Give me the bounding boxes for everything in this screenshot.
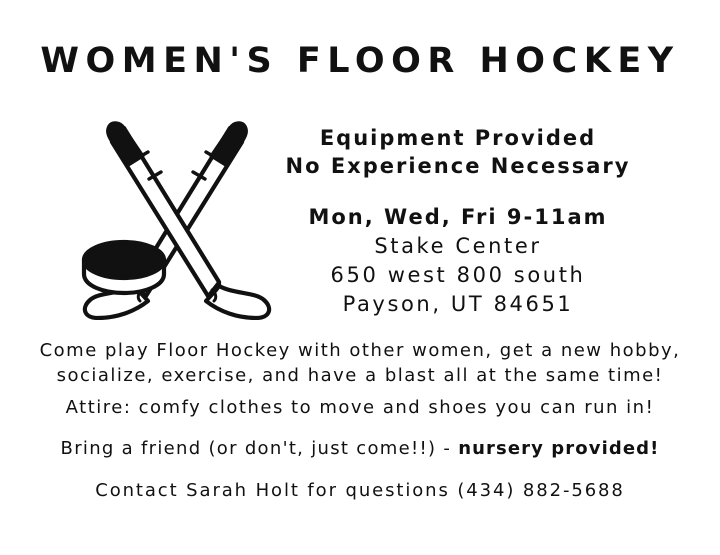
headline-experience: No Experience Necessary	[258, 152, 658, 180]
crossed-hockey-sticks-icon	[72, 100, 282, 320]
intro-line-1: Come play Floor Hockey with other women,…	[0, 338, 720, 363]
page-title: WOMEN'S FLOOR HOCKEY	[0, 44, 720, 79]
venue-name: Stake Center	[258, 232, 658, 261]
flyer-canvas: WOMEN'S FLOOR HOCKEY	[0, 0, 720, 555]
venue-street: 650 west 800 south	[258, 261, 658, 290]
nursery-provided-emphasis: nursery provided!	[458, 438, 659, 459]
event-info-block: Equipment Provided No Experience Necessa…	[258, 124, 658, 319]
headline-equipment: Equipment Provided	[258, 124, 658, 152]
hockey-puck	[84, 242, 164, 293]
hockey-illustration-svg	[72, 100, 282, 320]
intro-line-2: socialize, exercise, and have a blast al…	[0, 363, 720, 388]
bring-friend-text: Bring a friend (or don't, just come!!) -	[61, 438, 459, 459]
schedule-line: Mon, Wed, Fri 9-11am	[258, 202, 658, 232]
attire-paragraph: Attire: comfy clothes to move and shoes …	[0, 397, 720, 418]
venue-city-state-zip: Payson, UT 84651	[258, 290, 658, 319]
bring-friend-paragraph: Bring a friend (or don't, just come!!) -…	[0, 438, 720, 459]
intro-paragraph: Come play Floor Hockey with other women,…	[0, 338, 720, 388]
contact-paragraph: Contact Sarah Holt for questions (434) 8…	[0, 480, 720, 501]
